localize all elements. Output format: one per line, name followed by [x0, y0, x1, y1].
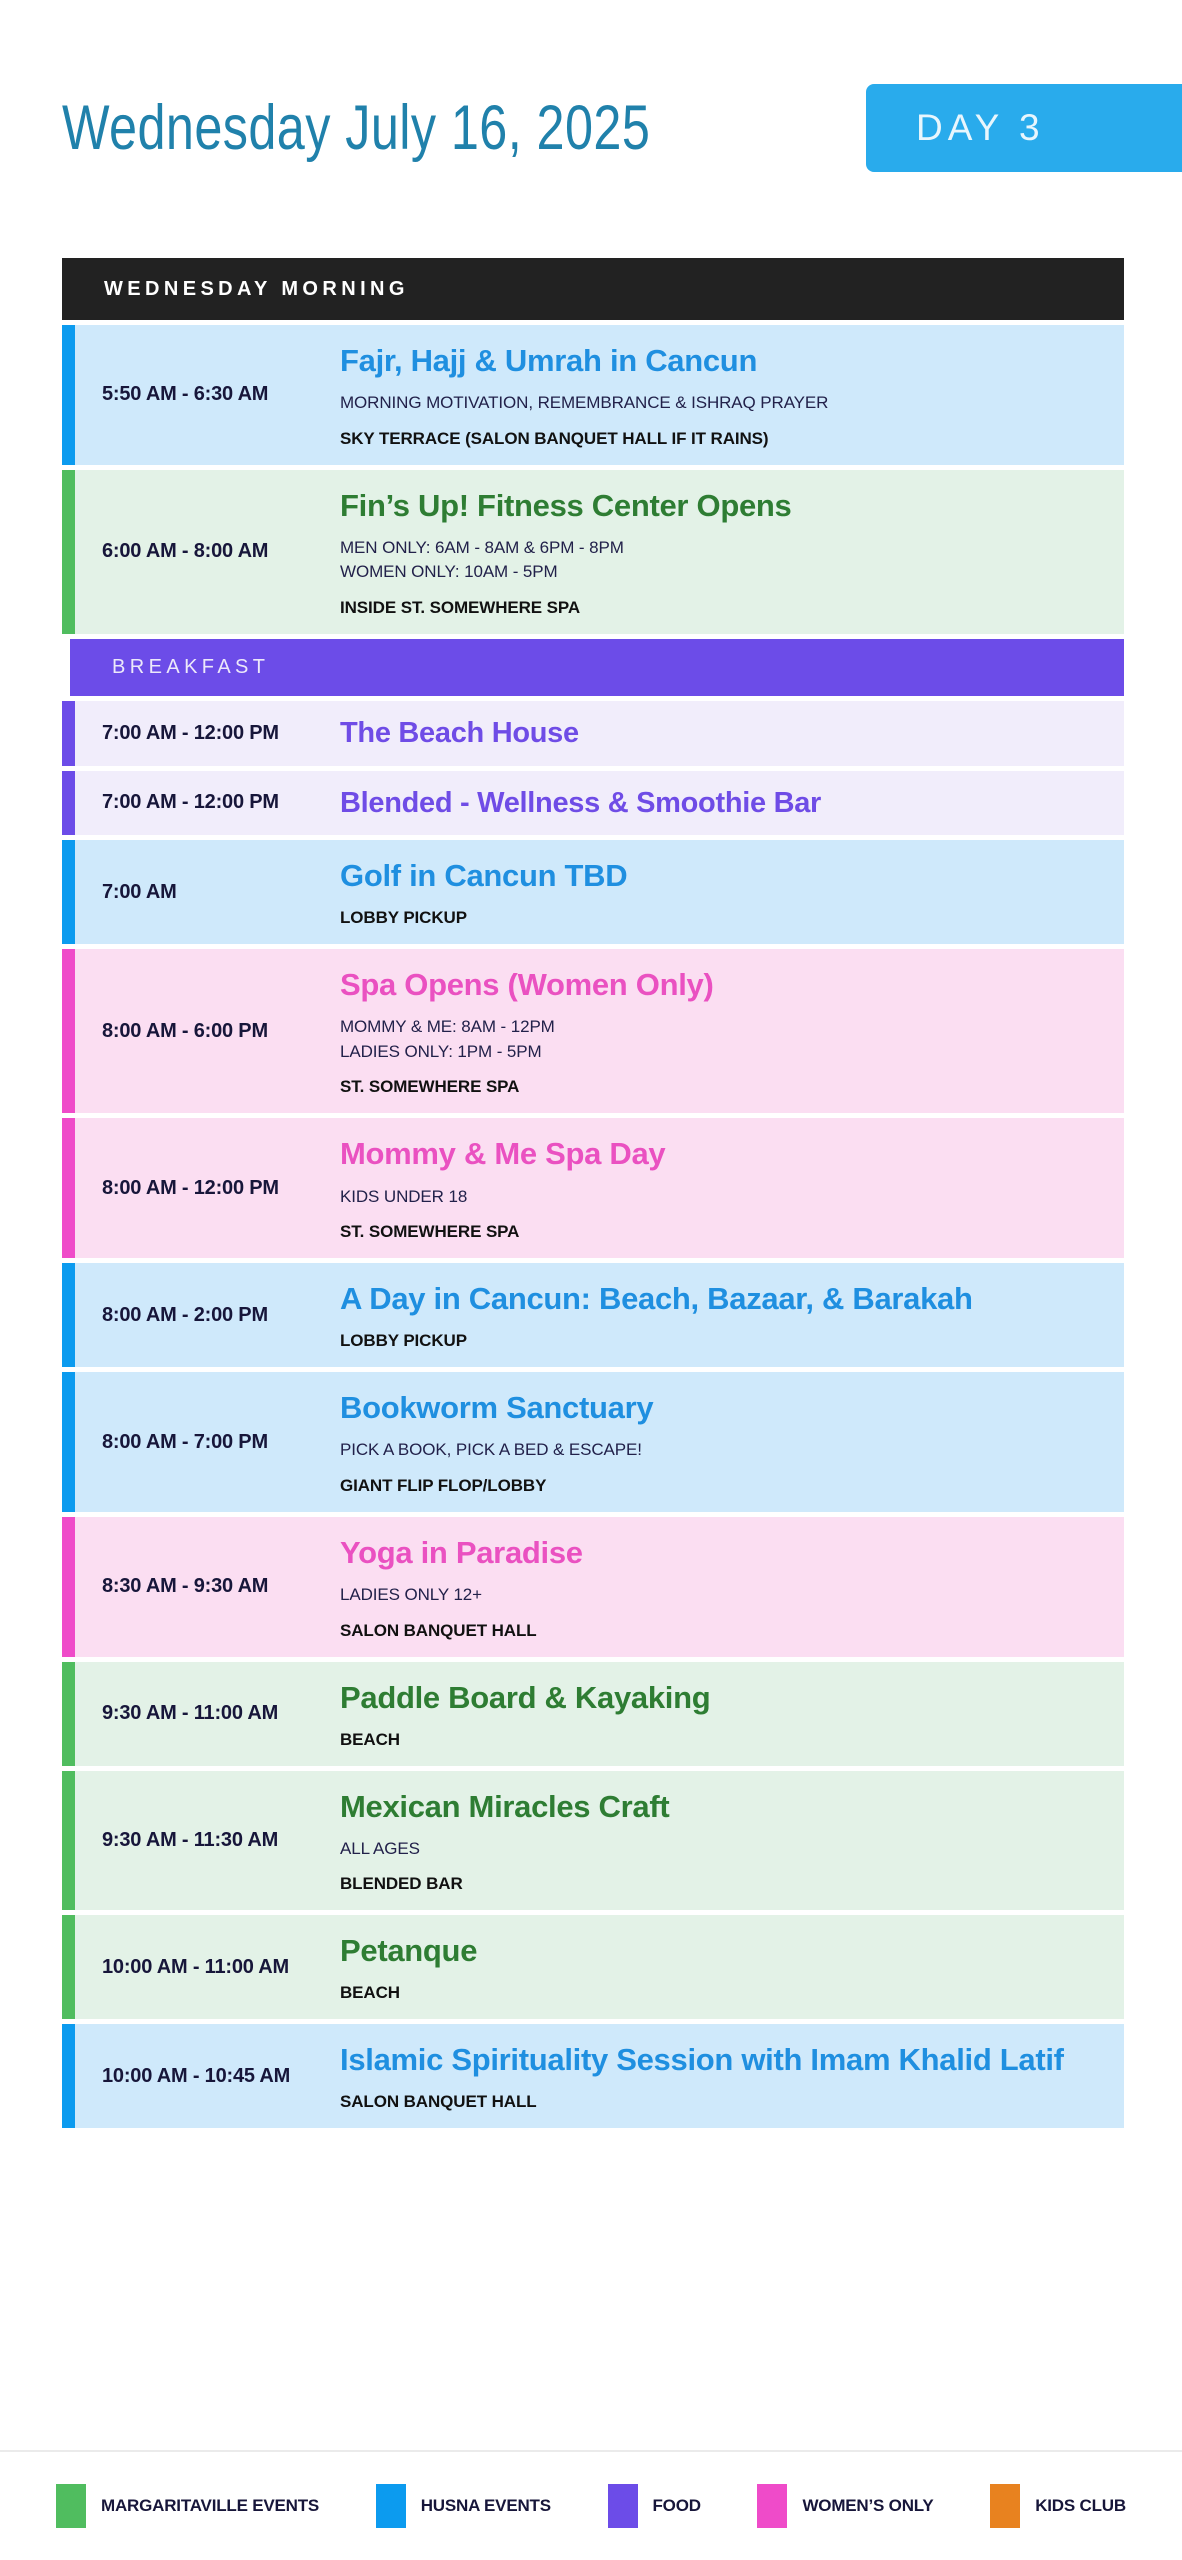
event-category-accent-bar [62, 470, 75, 634]
event-body: 7:00 AM - 12:00 PMBlended - Wellness & S… [75, 771, 1124, 836]
event-time: 7:00 AM - 12:00 PM [75, 722, 340, 745]
event-body: 8:00 AM - 6:00 PMSpa Opens (Women Only)M… [75, 949, 1124, 1113]
event-category-accent-bar [62, 325, 75, 465]
event-row[interactable]: 9:30 AM - 11:00 AMPaddle Board & Kayakin… [62, 1662, 1124, 1766]
legend-swatch-food [608, 2484, 638, 2528]
event-time: 9:30 AM - 11:00 AM [75, 1702, 340, 1725]
event-location: LOBBY PICKUP [340, 908, 1100, 928]
event-category-accent-bar [62, 771, 75, 836]
event-info: Bookworm SanctuaryPICK A BOOK, PICK A BE… [340, 1388, 1124, 1496]
meal-bar-label: BREAKFAST [112, 656, 269, 679]
event-category-accent-bar [62, 701, 75, 766]
event-body: 9:30 AM - 11:30 AMMexican Miracles Craft… [75, 1771, 1124, 1911]
event-body: 10:00 AM - 11:00 AMPetanqueBEACH [75, 1915, 1124, 2019]
event-time: 8:00 AM - 2:00 PM [75, 1304, 340, 1327]
event-row[interactable]: 10:00 AM - 11:00 AMPetanqueBEACH [62, 1915, 1124, 2019]
legend-swatch-womens [757, 2484, 787, 2528]
event-location: SALON BANQUET HALL [340, 2092, 1100, 2112]
legend-item-husna: HUSNA EVENTS [376, 2484, 551, 2528]
event-category-accent-bar [62, 1662, 75, 1766]
event-row[interactable]: 8:30 AM - 9:30 AMYoga in ParadiseLADIES … [62, 1517, 1124, 1657]
event-row[interactable]: 8:00 AM - 6:00 PMSpa Opens (Women Only)M… [62, 949, 1124, 1113]
legend-label: KIDS CLUB [1035, 2496, 1126, 2516]
event-category-accent-bar [62, 1118, 75, 1258]
event-title: The Beach House [340, 715, 1100, 752]
legend-item-food: FOOD [608, 2484, 701, 2528]
event-time: 8:00 AM - 7:00 PM [75, 1431, 340, 1454]
event-body: 6:00 AM - 8:00 AMFin’s Up! Fitness Cente… [75, 470, 1124, 634]
event-body: 8:00 AM - 12:00 PMMommy & Me Spa DayKIDS… [75, 1118, 1124, 1258]
section-header-morning: WEDNESDAY MORNING [62, 258, 1124, 320]
event-title: Mommy & Me Spa Day [340, 1134, 1100, 1173]
event-row[interactable]: 8:00 AM - 12:00 PMMommy & Me Spa DayKIDS… [62, 1118, 1124, 1258]
section-header-label: WEDNESDAY MORNING [104, 278, 409, 301]
event-title: Fajr, Hajj & Umrah in Cancun [340, 341, 1100, 380]
event-info: Mommy & Me Spa DayKIDS UNDER 18ST. SOMEW… [340, 1134, 1124, 1242]
legend-swatch-kids [990, 2484, 1020, 2528]
legend-label: FOOD [653, 2496, 701, 2516]
event-title: Bookworm Sanctuary [340, 1388, 1100, 1427]
event-row[interactable]: 10:00 AM - 10:45 AMIslamic Spirituality … [62, 2024, 1124, 2128]
page-title: Wednesday July 16, 2025 [62, 92, 650, 164]
event-time: 6:00 AM - 8:00 AM [75, 540, 340, 563]
event-time: 9:30 AM - 11:30 AM [75, 1829, 340, 1852]
event-time: 7:00 AM [75, 881, 340, 904]
event-info: The Beach House [340, 715, 1124, 752]
day-badge: DAY 3 [866, 84, 1182, 172]
legend-label: MARGARITAVILLE EVENTS [101, 2496, 319, 2516]
event-description: ALL AGES [340, 1837, 1100, 1862]
event-title: Mexican Miracles Craft [340, 1787, 1100, 1826]
event-row[interactable]: 7:00 AMGolf in Cancun TBDLOBBY PICKUP [62, 840, 1124, 944]
event-category-accent-bar [62, 949, 75, 1113]
legend-item-kids: KIDS CLUB [990, 2484, 1126, 2528]
event-time: 8:00 AM - 12:00 PM [75, 1177, 340, 1200]
event-description: PICK A BOOK, PICK A BED & ESCAPE! [340, 1438, 1100, 1463]
event-title: Golf in Cancun TBD [340, 856, 1100, 895]
event-row[interactable]: 7:00 AM - 12:00 PMBlended - Wellness & S… [62, 771, 1124, 836]
event-row[interactable]: 8:00 AM - 7:00 PMBookworm SanctuaryPICK … [62, 1372, 1124, 1512]
event-description: MORNING MOTIVATION, REMEMBRANCE & ISHRAQ… [340, 391, 1100, 416]
event-row[interactable]: 6:00 AM - 8:00 AMFin’s Up! Fitness Cente… [62, 470, 1124, 634]
event-time: 8:00 AM - 6:00 PM [75, 1020, 340, 1043]
event-title: Fin’s Up! Fitness Center Opens [340, 486, 1100, 525]
event-time: 8:30 AM - 9:30 AM [75, 1575, 340, 1598]
legend-footer: MARGARITAVILLE EVENTSHUSNA EVENTSFOODWOM… [0, 2450, 1182, 2560]
meal-bar-breakfast: BREAKFAST [70, 639, 1124, 696]
event-location: LOBBY PICKUP [340, 1331, 1100, 1351]
event-category-accent-bar [62, 840, 75, 944]
event-title: Spa Opens (Women Only) [340, 965, 1100, 1004]
event-title: Islamic Spirituality Session with Imam K… [340, 2040, 1100, 2079]
event-location: ST. SOMEWHERE SPA [340, 1077, 1100, 1097]
event-time: 10:00 AM - 11:00 AM [75, 1956, 340, 1979]
event-row[interactable]: 7:00 AM - 12:00 PMThe Beach House [62, 701, 1124, 766]
event-info: Blended - Wellness & Smoothie Bar [340, 785, 1124, 822]
event-info: Fajr, Hajj & Umrah in CancunMORNING MOTI… [340, 341, 1124, 449]
event-body: 8:00 AM - 2:00 PMA Day in Cancun: Beach,… [75, 1263, 1124, 1367]
legend-label: HUSNA EVENTS [421, 2496, 551, 2516]
events-container: 5:50 AM - 6:30 AMFajr, Hajj & Umrah in C… [62, 325, 1124, 2128]
event-category-accent-bar [62, 1915, 75, 2019]
event-title: Paddle Board & Kayaking [340, 1678, 1100, 1717]
event-location: SKY TERRACE (SALON BANQUET HALL IF IT RA… [340, 429, 1100, 449]
day-badge-label: DAY 3 [916, 107, 1045, 149]
schedule-list: WEDNESDAY MORNING 5:50 AM - 6:30 AMFajr,… [62, 258, 1124, 2133]
event-info: Spa Opens (Women Only)MOMMY & ME: 8AM - … [340, 965, 1124, 1097]
event-time: 7:00 AM - 12:00 PM [75, 791, 340, 814]
event-info: Mexican Miracles CraftALL AGESBLENDED BA… [340, 1787, 1124, 1895]
event-category-accent-bar [62, 1517, 75, 1657]
event-row[interactable]: 5:50 AM - 6:30 AMFajr, Hajj & Umrah in C… [62, 325, 1124, 465]
legend-item-margaritaville: MARGARITAVILLE EVENTS [56, 2484, 319, 2528]
event-location: BLENDED BAR [340, 1874, 1100, 1894]
event-description: MEN ONLY: 6AM - 8AM & 6PM - 8PMWOMEN ONL… [340, 536, 1100, 585]
event-location: GIANT FLIP FLOP/LOBBY [340, 1476, 1100, 1496]
legend-swatch-margaritaville [56, 2484, 86, 2528]
legend: MARGARITAVILLE EVENTSHUSNA EVENTSFOODWOM… [0, 2484, 1182, 2528]
event-time: 5:50 AM - 6:30 AM [75, 383, 340, 406]
event-info: PetanqueBEACH [340, 1931, 1124, 2003]
event-location: BEACH [340, 1730, 1100, 1750]
event-row[interactable]: 8:00 AM - 2:00 PMA Day in Cancun: Beach,… [62, 1263, 1124, 1367]
event-info: Islamic Spirituality Session with Imam K… [340, 2040, 1124, 2112]
event-body: 5:50 AM - 6:30 AMFajr, Hajj & Umrah in C… [75, 325, 1124, 465]
event-category-accent-bar [62, 1372, 75, 1512]
event-location: ST. SOMEWHERE SPA [340, 1222, 1100, 1242]
event-location: BEACH [340, 1983, 1100, 2003]
legend-item-womens: WOMEN’S ONLY [757, 2484, 933, 2528]
event-title: A Day in Cancun: Beach, Bazaar, & Baraka… [340, 1279, 1100, 1318]
event-category-accent-bar [62, 1263, 75, 1367]
event-description: LADIES ONLY 12+ [340, 1583, 1100, 1608]
legend-label: WOMEN’S ONLY [802, 2496, 933, 2516]
event-body: 10:00 AM - 10:45 AMIslamic Spirituality … [75, 2024, 1124, 2128]
event-body: 7:00 AMGolf in Cancun TBDLOBBY PICKUP [75, 840, 1124, 944]
event-info: A Day in Cancun: Beach, Bazaar, & Baraka… [340, 1279, 1124, 1351]
event-body: 9:30 AM - 11:00 AMPaddle Board & Kayakin… [75, 1662, 1124, 1766]
event-category-accent-bar [62, 2024, 75, 2128]
event-location: INSIDE ST. SOMEWHERE SPA [340, 598, 1100, 618]
event-title: Petanque [340, 1931, 1100, 1970]
event-body: 8:30 AM - 9:30 AMYoga in ParadiseLADIES … [75, 1517, 1124, 1657]
event-info: Paddle Board & KayakingBEACH [340, 1678, 1124, 1750]
event-location: SALON BANQUET HALL [340, 1621, 1100, 1641]
event-category-accent-bar [62, 1771, 75, 1911]
event-title: Yoga in Paradise [340, 1533, 1100, 1572]
legend-swatch-husna [376, 2484, 406, 2528]
schedule-page: Wednesday July 16, 2025 DAY 3 WEDNESDAY … [0, 0, 1182, 2560]
event-time: 10:00 AM - 10:45 AM [75, 2065, 340, 2088]
event-title: Blended - Wellness & Smoothie Bar [340, 785, 1100, 822]
event-description: MOMMY & ME: 8AM - 12PMLADIES ONLY: 1PM -… [340, 1015, 1100, 1064]
event-row[interactable]: 9:30 AM - 11:30 AMMexican Miracles Craft… [62, 1771, 1124, 1911]
event-info: Fin’s Up! Fitness Center OpensMEN ONLY: … [340, 486, 1124, 618]
event-info: Golf in Cancun TBDLOBBY PICKUP [340, 856, 1124, 928]
event-description: KIDS UNDER 18 [340, 1185, 1100, 1210]
event-info: Yoga in ParadiseLADIES ONLY 12+SALON BAN… [340, 1533, 1124, 1641]
event-body: 8:00 AM - 7:00 PMBookworm SanctuaryPICK … [75, 1372, 1124, 1512]
event-body: 7:00 AM - 12:00 PMThe Beach House [75, 701, 1124, 766]
